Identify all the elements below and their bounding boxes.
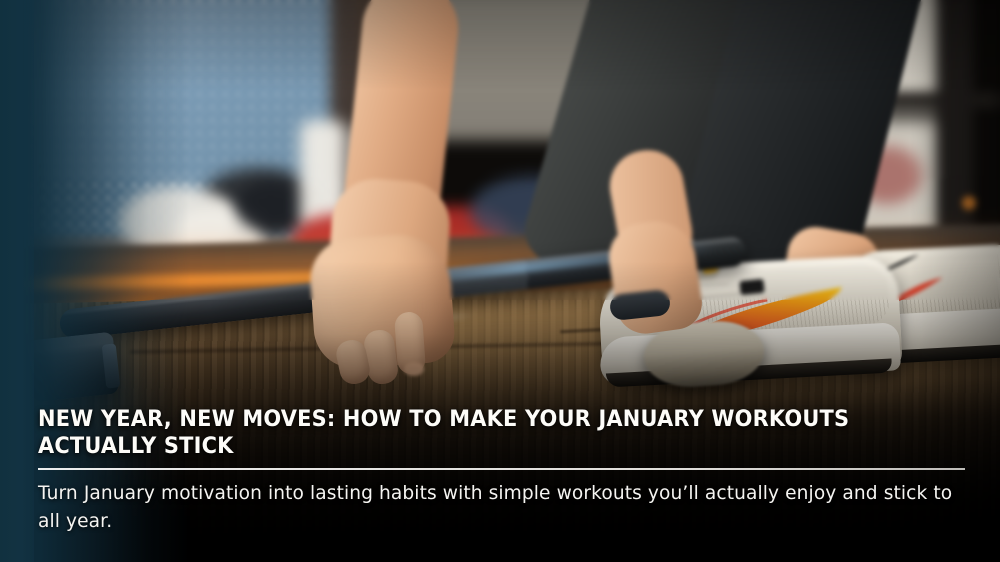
page-title: New Year, New Moves: How to Make Your Ja…	[38, 406, 875, 460]
hero-banner: New Year, New Moves: How to Make Your Ja…	[0, 0, 1000, 562]
background-gym-bag	[236, 180, 308, 232]
title-divider	[38, 468, 965, 470]
left-edge-band	[0, 0, 34, 562]
page-subtitle: Turn January motivation into lasting hab…	[38, 480, 974, 536]
